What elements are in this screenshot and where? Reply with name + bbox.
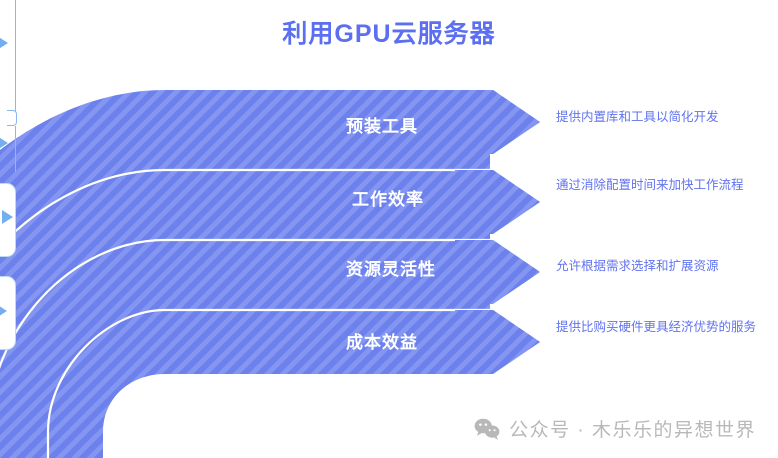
band-description-2: 通过消除配置时间来加快工作流程 [556,176,768,194]
band-description-4: 提供比购买硬件更具经济优势的服务 [556,318,768,336]
band-label-3: 资源灵活性 [346,255,436,280]
band-description-3: 允许根据需求选择和扩展资源 [556,257,768,275]
page-title: 利用GPU云服务器 [0,14,778,50]
footer-text: 公众号 · 木乐乐的异想世界 [509,415,756,442]
play-triangle-icon-4[interactable] [0,304,7,318]
chevron-connector-icon [7,110,17,126]
band-label-2: 工作效率 [352,185,424,210]
wechat-icon [474,418,500,440]
left-edge-chrome [0,0,50,458]
infographic-canvas: 利用GPU云服务器 [0,0,778,458]
footer-watermark: 公众号 · 木乐乐的异想世界 [474,415,756,442]
band-description-1: 提供内置库和工具以简化开发 [556,108,768,126]
play-triangle-icon-2[interactable] [0,136,8,150]
band-label-4: 成本效益 [346,328,418,353]
play-triangle-icon-3[interactable] [2,210,13,224]
connector-line-mid [15,126,16,172]
band-label-1: 预装工具 [346,112,418,137]
arc-funnel-graphic [0,0,778,458]
